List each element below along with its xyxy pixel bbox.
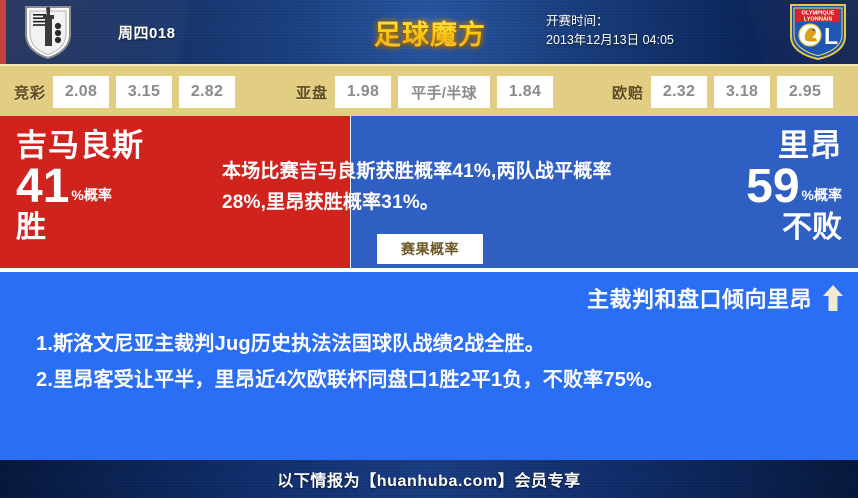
verdict-text: 主裁判和盘口倾向里昂	[587, 282, 812, 314]
footer-text: 以下情报为【huanhuba.com】会员专享	[277, 467, 581, 491]
away-team-name: 里昂	[746, 130, 842, 161]
away-team-block: 里昂 59 %概率 不败	[746, 130, 842, 243]
svg-text:LYONNAIS: LYONNAIS	[804, 16, 833, 22]
away-win-percent: 59	[746, 165, 799, 209]
kickoff-value: 2013年12月13日 04:05	[546, 31, 766, 50]
odds-label-jingcai: 竞彩	[14, 82, 46, 103]
analysis-point-1: 1.斯洛文尼亚主裁判Jug历史执法法国球队战绩2战全胜。	[36, 326, 832, 362]
kickoff-time: 开赛时间： 2013年12月13日 04:05	[546, 12, 766, 50]
home-team-block: 吉马良斯 41 %概率 胜	[16, 130, 144, 243]
probability-section: 吉马良斯 41 %概率 胜 里昂 59 %概率 不败 本场比赛吉马良斯获胜概率4…	[0, 116, 858, 268]
analysis-points: 1.斯洛文尼亚主裁判Jug历史执法法国球队战绩2战全胜。 2.里昂客受让平半，里…	[36, 326, 832, 398]
site-logo: 足球魔方	[363, 6, 497, 58]
odds-value-jingcai-draw[interactable]: 3.15	[116, 76, 172, 108]
analysis-section: 主裁判和盘口倾向里昂 1.斯洛文尼亚主裁判Jug历史执法法国球队战绩2战全胜。 …	[0, 272, 858, 460]
match-number: 周四018	[118, 22, 176, 43]
away-result-label: 不败	[746, 213, 842, 243]
odds-value-yapan-home[interactable]: 1.98	[335, 76, 391, 108]
match-preview-card: 周四018 足球魔方 开赛时间： 2013年12月13日 04:05 OLYMP…	[0, 0, 858, 498]
vitoria-guimaraes-crest-icon	[20, 4, 76, 60]
odds-value-yapan-away[interactable]: 1.84	[497, 76, 553, 108]
odds-value-jingcai-home[interactable]: 2.08	[53, 76, 109, 108]
odds-group-yapan: 亚盘 1.98 平手/半球 1.84	[296, 66, 553, 118]
odds-value-oupei-draw[interactable]: 3.18	[714, 76, 770, 108]
probability-summary: 本场比赛吉马良斯获胜概率41%,两队战平概率28%,里昂获胜概率31%。	[222, 156, 617, 218]
footer: 以下情报为【huanhuba.com】会员专享	[0, 460, 858, 498]
odds-label-yapan: 亚盘	[296, 82, 328, 103]
home-team-name: 吉马良斯	[16, 130, 144, 161]
analysis-point-2: 2.里昂客受让平半，里昂近4次欧联杯同盘口1胜2平1负，不败率75%。	[36, 362, 832, 398]
odds-value-jingcai-away[interactable]: 2.82	[179, 76, 235, 108]
home-win-percent: 41	[16, 165, 69, 209]
home-result-label: 胜	[16, 213, 144, 243]
verdict-row: 主裁判和盘口倾向里昂	[587, 282, 844, 314]
kickoff-label: 开赛时间：	[546, 12, 766, 31]
away-percent-suffix: %概率	[802, 188, 842, 209]
tab-result-probability[interactable]: 赛果概率	[377, 234, 483, 264]
odds-bar: 竞彩 2.08 3.15 2.82 亚盘 1.98 平手/半球 1.84 欧赔 …	[0, 64, 858, 116]
odds-label-oupei: 欧赔	[612, 82, 644, 103]
odds-value-oupei-home[interactable]: 2.32	[651, 76, 707, 108]
odds-value-yapan-handicap[interactable]: 平手/半球	[398, 76, 490, 108]
svg-text:L: L	[824, 23, 838, 49]
home-percent-suffix: %概率	[71, 188, 111, 209]
site-logo-text: 足球魔方	[374, 13, 486, 52]
olympique-lyonnais-crest-icon: OLYMPIQUE LYONNAIS L	[788, 3, 848, 61]
arrow-up-icon	[822, 284, 844, 312]
odds-group-oupei: 欧赔 2.32 3.18 2.95	[612, 66, 833, 118]
odds-value-oupei-away[interactable]: 2.95	[777, 76, 833, 108]
odds-group-jingcai: 竞彩 2.08 3.15 2.82	[14, 66, 235, 118]
header: 周四018 足球魔方 开赛时间： 2013年12月13日 04:05 OLYMP…	[0, 0, 858, 64]
